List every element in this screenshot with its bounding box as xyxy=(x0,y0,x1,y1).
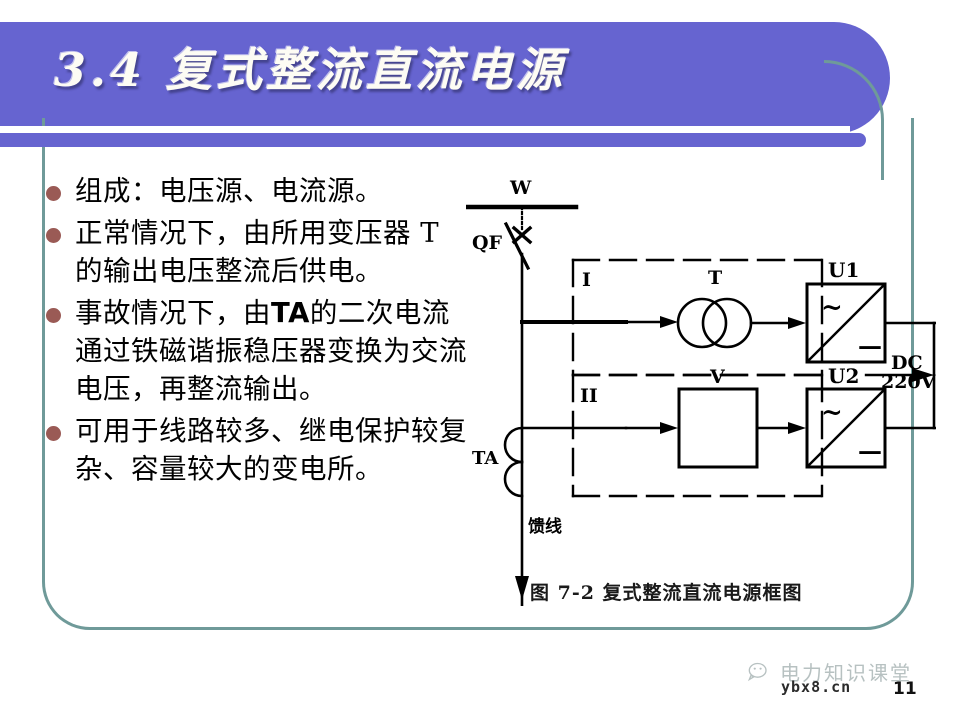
label-feeder: 馈线 xyxy=(528,516,562,537)
bullet-list: 组成：电压源、电流源。 正常情况下，由所用变压器 T 的输出电压整流后供电。 事… xyxy=(46,172,476,492)
list-item: 组成：电压源、电流源。 xyxy=(46,172,476,210)
bullet-text-pre: 事故情况下，由 xyxy=(75,297,271,329)
label-transformer: T xyxy=(708,267,722,289)
bullet-marker-icon xyxy=(46,308,61,323)
list-item: 正常情况下，由所用变压器 T 的输出电压整流后供电。 xyxy=(46,214,476,290)
bullet-text: 可用于线路较多、继电保护较复杂、容量较大的变电所。 xyxy=(75,412,476,488)
wechat-icon xyxy=(748,662,774,682)
label-branch2: II xyxy=(580,385,598,407)
u2-ac-symbol: ~ xyxy=(821,398,843,428)
u1-dc-symbol: — xyxy=(858,331,882,360)
ct-arc-2 xyxy=(505,462,522,496)
label-current-transformer: TA xyxy=(472,448,499,469)
watermark-url: ybx8.cn xyxy=(781,678,851,696)
ct-arc-1 xyxy=(505,428,522,462)
list-item: 可用于线路较多、继电保护较复杂、容量较大的变电所。 xyxy=(46,412,476,488)
branch2-dashed-box xyxy=(573,375,822,496)
figure-caption: 图 7-2 复式整流直流电源框图 xyxy=(530,578,803,605)
label-dc-line2: 220V xyxy=(881,371,936,393)
title-bar-underbar xyxy=(0,133,866,147)
page-title: 3.4 复式整流直流电源 xyxy=(54,34,566,100)
page-number: 11 xyxy=(893,679,917,699)
bullet-text: 正常情况下，由所用变压器 T 的输出电压整流后供电。 xyxy=(75,214,476,290)
circuit-diagram-svg: W QF I II T U1 U2 V TA 馈线 DC 220V ~ — ~ … xyxy=(466,176,936,606)
u1-ac-symbol: ~ xyxy=(821,293,843,323)
circuit-diagram: W QF I II T U1 U2 V TA 馈线 DC 220V ~ — ~ … xyxy=(466,176,936,606)
slide: 3.4 复式整流直流电源 组成：电压源、电流源。 正常情况下，由所用变压器 T … xyxy=(0,0,960,720)
arrow-to-transformer xyxy=(660,316,678,328)
bullet-marker-icon xyxy=(46,186,61,201)
bullet-marker-icon xyxy=(46,228,61,243)
feeder-arrow xyxy=(515,576,529,600)
list-item: 事故情况下，由TA的二次电流通过铁磁谐振稳压器变换为交流电压，再整流输出。 xyxy=(46,294,476,408)
branch1-dashed-box xyxy=(573,260,822,375)
label-branch1: I xyxy=(582,269,591,291)
bullet-marker-icon xyxy=(46,426,61,441)
label-rectifier-u2: U2 xyxy=(828,364,859,388)
bullet-text-emphasis: TA xyxy=(271,297,310,329)
label-breaker: QF xyxy=(472,232,503,254)
u2-dc-symbol: — xyxy=(858,436,882,465)
arrow-to-u2 xyxy=(788,422,806,434)
arrow-to-u1 xyxy=(788,317,806,329)
label-stabilizer-v: V xyxy=(709,366,726,388)
bullet-text: 事故情况下，由TA的二次电流通过铁磁谐振稳压器变换为交流电压，再整流输出。 xyxy=(75,294,476,408)
label-busbar: W xyxy=(509,177,532,199)
title-bar-white-stripe xyxy=(0,126,850,133)
label-rectifier-u1: U1 xyxy=(828,258,859,282)
stabilizer-v-box xyxy=(679,389,757,467)
bullet-text: 组成：电压源、电流源。 xyxy=(75,172,383,210)
